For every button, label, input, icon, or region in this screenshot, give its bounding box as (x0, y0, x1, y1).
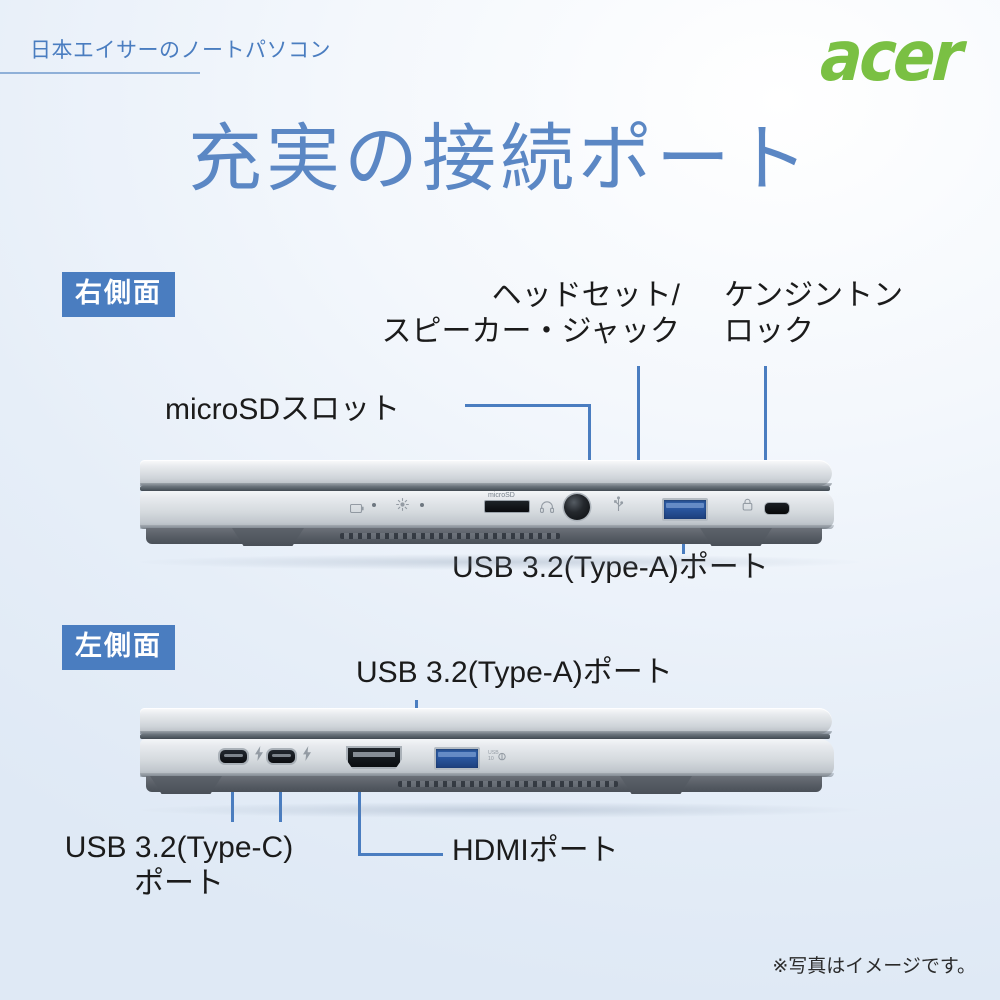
power-indicator-icon (396, 498, 409, 516)
callout-usb-c: USB 3.2(Type-C) ポート (14, 830, 344, 902)
microsd-slot[interactable] (484, 500, 530, 513)
laptop-shadow (140, 554, 860, 570)
site-link[interactable]: 日本エイサーのノートパソコン (30, 34, 331, 64)
footnote-disclaimer: ※写真はイメージです。 (772, 951, 976, 978)
callout-microsd-slot: microSDスロット (165, 392, 400, 428)
badge-left-side: 左側面 (62, 625, 175, 670)
power-status-led (420, 503, 424, 507)
headset-speaker-jack[interactable] (564, 494, 590, 520)
battery-indicator-icon (350, 500, 364, 518)
usb-icon (613, 496, 624, 517)
kensington-lock-slot[interactable] (764, 502, 790, 515)
callout-headset-jack: ヘッドセット/ スピーカー・ジャック (300, 278, 680, 350)
header-divider (0, 72, 200, 74)
callout-hdmi: HDMIポート (452, 833, 619, 869)
battery-status-led (372, 503, 376, 507)
thunderbolt-icon-1 (254, 746, 264, 766)
laptop-foot-right (620, 776, 692, 794)
badge-right-side: 右側面 (62, 272, 175, 317)
acer-logo: acer (818, 22, 962, 91)
callout-usb-a-left: USB 3.2(Type-A)ポート (356, 655, 673, 691)
laptop-foot-left (150, 776, 222, 794)
usb-c-port-2[interactable] (266, 748, 297, 765)
callout-kensington-lock: ケンジントン ロック (724, 278, 994, 350)
laptop-lid (140, 708, 832, 734)
laptop-foot-left (232, 528, 304, 546)
laptop-vent-strip (398, 781, 618, 787)
laptop-foot-right (700, 528, 772, 546)
lock-icon (742, 498, 753, 516)
usb-a-port-left[interactable] (434, 747, 480, 770)
svg-text:10: 10 (488, 756, 494, 761)
usb-a-port-right[interactable] (662, 498, 708, 521)
hdmi-port[interactable] (346, 746, 402, 769)
usb-c-port-1[interactable] (218, 748, 249, 765)
leader-line-hdmi-horizontal (358, 853, 443, 856)
product-spec-page: 日本エイサーのノートパソコン acer 充実の接続ポート 右側面 ヘッドセット/… (0, 0, 1000, 1000)
leader-line-microsd-horizontal (465, 404, 591, 407)
laptop-right-side-view: microSD (140, 458, 840, 570)
laptop-lid (140, 460, 832, 486)
laptop-shadow (140, 802, 860, 818)
laptop-vent-strip (340, 533, 560, 539)
headset-icon (540, 500, 554, 518)
page-title: 充実の接続ポート (0, 118, 1000, 200)
usb-ss-icon: USB10 (488, 748, 506, 766)
laptop-left-side-view: USB10 (140, 706, 840, 818)
thunderbolt-icon-2 (302, 746, 312, 766)
